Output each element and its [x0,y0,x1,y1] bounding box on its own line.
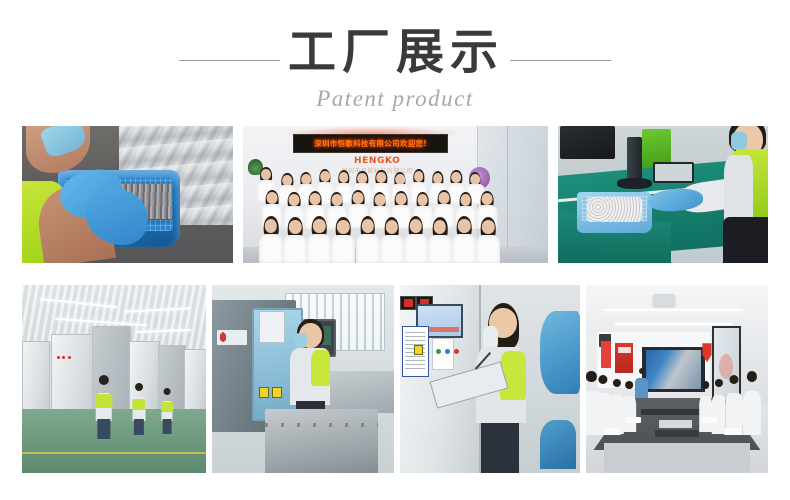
gallery-image-company-group[interactable]: 深圳市恒歌科技有限公司欢迎您! HENGKO 深圳市恒歌科技有限公司 [243,126,548,263]
gallery-image-conference-meeting[interactable] [586,285,768,473]
gallery-image-assembly-sorting[interactable] [22,126,233,263]
gallery-image-cnc-machining[interactable] [212,285,394,473]
group-people [252,167,520,263]
photo-assembly-sorting [22,126,233,263]
gallery-image-microscope-inspection[interactable] [558,126,768,263]
wall-logo-text: HENGKO [354,156,400,166]
photo-production-line [22,285,206,473]
photo-microscope-inspection [558,126,768,263]
gallery-image-process-recording[interactable] [400,285,580,473]
led-welcome-banner: 深圳市恒歌科技有限公司欢迎您! [293,134,448,152]
led-banner-text: 深圳市恒歌科技有限公司欢迎您! [314,138,427,149]
photo-conference-meeting [586,285,768,473]
gallery-image-production-line[interactable] [22,285,206,473]
photo-cnc-machining [212,285,394,473]
photo-company-group: 深圳市恒歌科技有限公司欢迎您! HENGKO 深圳市恒歌科技有限公司 [243,126,548,263]
factory-photo-gallery: 深圳市恒歌科技有限公司欢迎您! HENGKO 深圳市恒歌科技有限公司 [0,0,790,500]
photo-process-recording [400,285,580,473]
